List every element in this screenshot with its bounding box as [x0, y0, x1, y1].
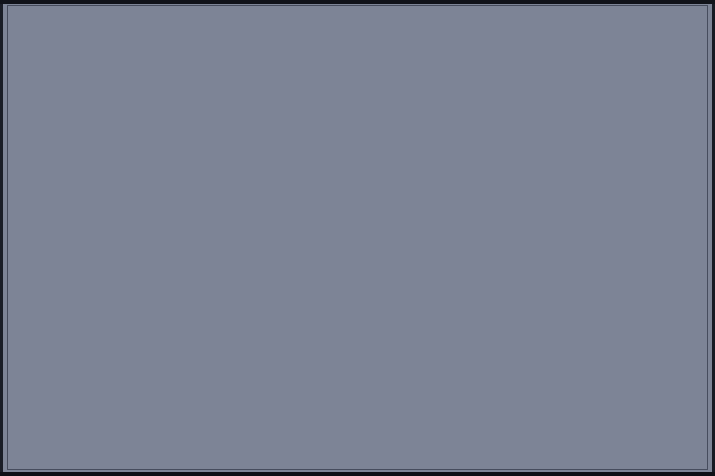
quote-line: незаурядные способности	[14, 314, 406, 345]
quote-line: исследователей».	[14, 344, 406, 375]
quote-text: «Имя Л.А.Загоскина стоит в одном ряду на…	[14, 100, 406, 405]
portrait-sepia-tone	[407, 33, 702, 448]
quote-line: XIX в., открывших для	[14, 222, 406, 253]
quote-line: путешественников	[14, 192, 406, 223]
quote-line: «Имя Л.А.Загоскина стоит	[14, 100, 406, 131]
slide: OCEANVS SEPTENTRIONALIS OCEANVS MARE TAR…	[0, 0, 715, 476]
portrait-photo	[407, 33, 702, 448]
rgs-emblem-icon: РУССКОЕ ГЕОГРАФИЧЕСКОЕ ОБЩЕСТВО • ОСНОВА…	[152, 28, 228, 100]
quote-line: Отечества новые земли и	[14, 253, 406, 284]
quote-line: выдающихся русских	[14, 161, 406, 192]
quote-line: проявивших при этом	[14, 283, 406, 314]
quote-line: в одном ряду наиболее	[14, 131, 406, 162]
quote-attribution: (Командор Резанов)	[14, 375, 406, 406]
